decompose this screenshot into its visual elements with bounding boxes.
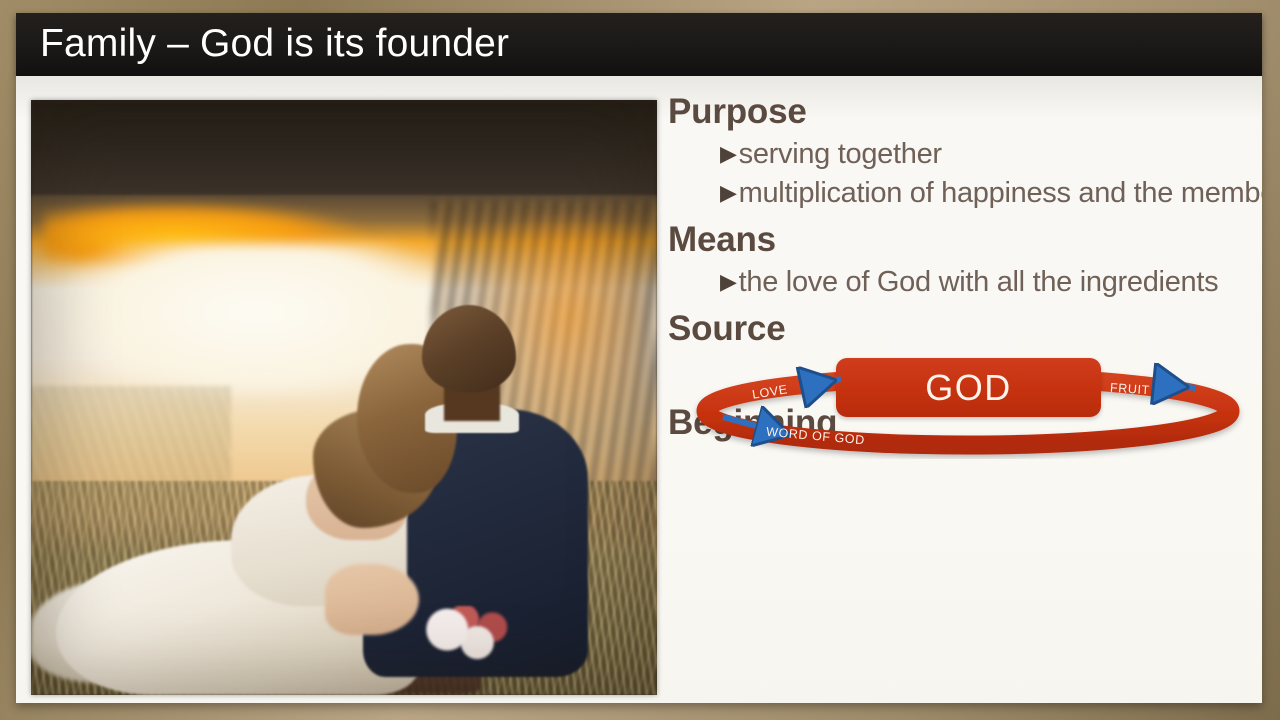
ring-label-fruit: FRUIT [1110,381,1151,398]
slide-title-bar: Family – God is its founder [16,13,1262,76]
slide-frame: Family – God is its founder [0,0,1280,720]
bullet-text: multiplication of happiness and the memb… [739,177,1262,209]
heading-purpose: Purpose [668,92,1258,131]
triangle-bullet-icon: ▶ [720,142,737,167]
god-center-box: GOD [836,358,1101,417]
heading-source: Source [668,309,1258,348]
bullet-text: serving together [739,138,942,170]
bullet-multiplication: ▶multiplication of happiness and the mem… [720,177,1258,210]
triangle-bullet-icon: ▶ [720,181,737,206]
bullet-serving-together: ▶serving together [720,138,1258,171]
triangle-bullet-icon: ▶ [720,270,737,295]
photo-vignette [31,100,657,695]
god-label: GOD [925,367,1012,409]
page-title: Family – God is its founder [40,22,509,66]
heading-means: Means [668,220,1258,259]
wedding-couple-photo [31,100,657,695]
bullet-love-of-god: ▶the love of God with all the ingredient… [720,266,1258,299]
slide-content-panel: Purpose ▶serving together ▶multiplicatio… [16,76,1262,703]
bullet-text: the love of God with all the ingredients [739,266,1219,298]
